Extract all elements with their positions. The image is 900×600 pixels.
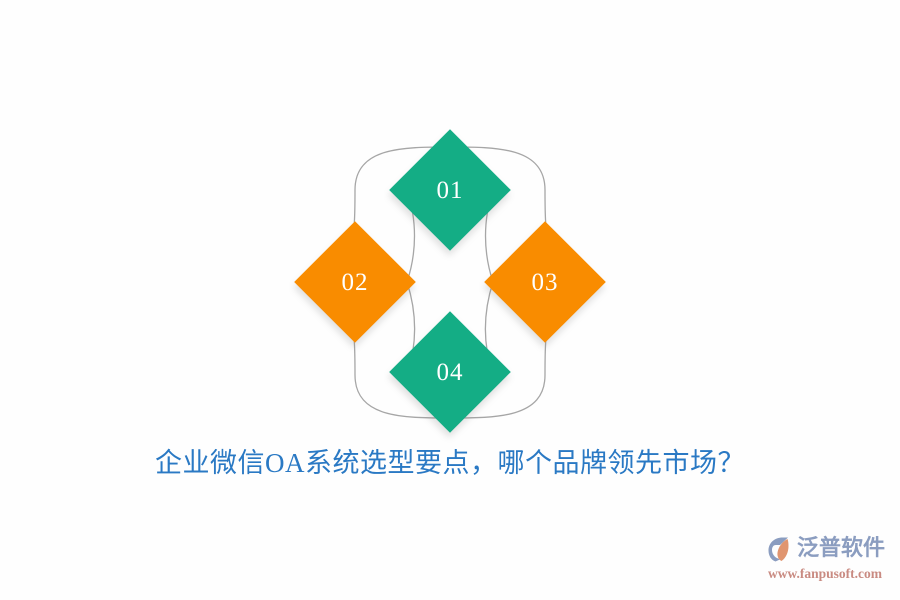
diagram-node-04-label: 04 xyxy=(437,360,464,385)
diagram-four-node-cluster: 01 02 03 04 xyxy=(285,120,615,445)
fanpu-logo-icon xyxy=(766,536,794,563)
page-canvas: 01 02 03 04 企业微信OA系统选型要点，哪个品牌领先市场？ 泛普软件 … xyxy=(0,0,900,600)
watermark-url: www.fanpusoft.com xyxy=(768,566,892,582)
watermark-logo: 泛普软件 www.fanpusoft.com xyxy=(766,533,892,585)
watermark-brand-name: 泛普软件 xyxy=(797,538,885,560)
page-title: 企业微信OA系统选型要点，哪个品牌领先市场？ xyxy=(0,441,900,480)
diagram-node-03-label: 03 xyxy=(532,270,559,295)
diagram-node-01-label: 01 xyxy=(437,178,464,203)
diagram-node-02-label: 02 xyxy=(342,270,369,295)
watermark-brand-row: 泛普软件 xyxy=(766,533,892,565)
